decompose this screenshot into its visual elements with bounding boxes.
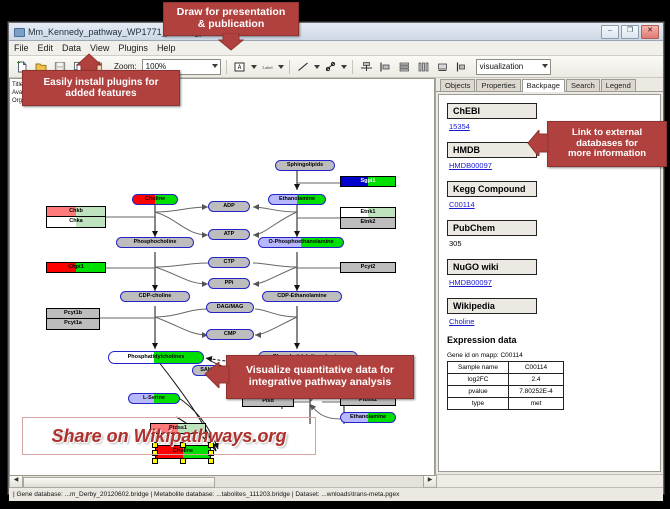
node-etnk2[interactable]: Etnk2 — [340, 218, 396, 229]
line-icon[interactable] — [295, 58, 312, 75]
visualization-value: visualization — [480, 62, 524, 71]
callout-visualize-arrow — [204, 362, 230, 388]
cell-key: Sample name — [448, 362, 509, 374]
toolbar-separator — [289, 60, 290, 74]
chevron-down-icon — [314, 65, 320, 69]
node-label: ADP — [223, 204, 235, 210]
expression-data-title: Expression data — [447, 335, 660, 345]
toolbar-separator — [226, 60, 227, 74]
node-label: Ethanolamine — [350, 415, 386, 421]
callout-visualize: Visualize quantitative data for integrat… — [226, 355, 414, 399]
svg-text:Label: Label — [262, 65, 273, 70]
callout-visualize-text: Visualize quantitative data for integrat… — [246, 365, 394, 389]
node-l-serine-left[interactable]: L-Serine — [128, 393, 180, 404]
node-label: Pcyt1a — [64, 321, 82, 327]
cell-value: met — [509, 398, 564, 410]
node-adp[interactable]: ADP — [208, 201, 250, 212]
table-row: type met — [448, 398, 564, 410]
menu-help[interactable]: Help — [157, 43, 176, 53]
callout-draw-text: Draw for presentation & publication — [177, 7, 286, 31]
node-label: Pcyt1b — [64, 311, 82, 317]
menu-bar: File Edit Data View Plugins Help — [9, 41, 663, 56]
section-header-nugo: NuGO wiki — [447, 259, 537, 275]
scroll-right-button[interactable]: ▶ — [423, 475, 437, 488]
callout-link-text: Link to external databases for more info… — [568, 128, 646, 160]
gene-id-line: Gene id on mapp: C00114 — [447, 352, 660, 359]
link-kegg[interactable]: C00114 — [449, 200, 660, 209]
menu-view[interactable]: View — [90, 43, 109, 53]
node-pcyt1a[interactable]: Pcyt1a — [46, 319, 100, 330]
node-phosphatidylcholines[interactable]: Phosphatidylcholines — [108, 351, 204, 364]
node-label: PPi — [225, 281, 234, 287]
node-label: CMP — [224, 332, 236, 338]
node-label: CDP-choline — [139, 294, 172, 300]
callout-link-arrow — [527, 130, 549, 156]
callout-link: Link to external databases for more info… — [547, 121, 667, 167]
cell-value: 2.4 — [509, 374, 564, 386]
order-icon[interactable] — [453, 58, 470, 75]
svg-text:A: A — [237, 64, 241, 71]
node-phosphocholine[interactable]: Phosphocholine — [116, 237, 194, 248]
label-dropdown[interactable] — [278, 65, 284, 69]
node-o-phosphoethanolamine[interactable]: O-Phosphoethanolamine — [258, 237, 344, 248]
cell-key: pvalue — [448, 386, 509, 398]
node-label: DAG/MAG — [217, 305, 244, 311]
node-cdp-ethanolamine[interactable]: CDP-Ethanolamine — [262, 291, 342, 302]
node-sphingolipids[interactable]: Sphingolipids — [275, 160, 335, 171]
horizontal-scrollbar[interactable]: ◀ ▶ — [9, 474, 663, 487]
tab-legend[interactable]: Legend — [601, 79, 636, 91]
expression-table: Sample name C00114 log2FC 2.4 pvalue 7.8… — [447, 361, 564, 410]
datanode-dropdown[interactable] — [251, 65, 257, 69]
maximize-button[interactable]: ❐ — [621, 25, 639, 39]
status-text: | Gene database: ...m_Derby_20120602.bri… — [13, 491, 399, 498]
node-label: Phosphocholine — [134, 240, 177, 246]
callout-share-text: Share on Wikipathways.org — [52, 426, 287, 447]
scroll-track[interactable] — [23, 476, 423, 487]
cell-value: 7.80252E-4 — [509, 386, 564, 398]
sidebar-tabs: Objects Properties Backpage Search Legen… — [436, 78, 663, 92]
node-label: CDP-Ethanolamine — [277, 294, 327, 300]
title-bar: Mm_Kennedy_pathway_WP1771_45176.gpml – ❐… — [9, 23, 663, 41]
section-header-pubchem: PubChem — [447, 220, 537, 236]
selection-handle[interactable] — [152, 458, 158, 464]
cell-key: log2FC — [448, 374, 509, 386]
label-icon[interactable]: Label — [259, 58, 276, 75]
node-label: Ethanolamine — [279, 197, 315, 203]
datanode-icon[interactable]: A — [232, 58, 249, 75]
node-ethanolamine-top[interactable]: Ethanolamine — [268, 194, 326, 205]
anchor-icon[interactable] — [322, 58, 339, 75]
table-row: pvalue 7.80252E-4 — [448, 386, 564, 398]
node-label: CTP — [224, 260, 235, 266]
callout-share: Share on Wikipathways.org — [22, 417, 316, 455]
node-label: L-Serine — [143, 396, 165, 402]
align-center-icon[interactable] — [358, 58, 375, 75]
node-sgpl1[interactable]: Sgpl1 — [340, 176, 396, 187]
scroll-left-button[interactable]: ◀ — [9, 475, 23, 488]
node-label: Pcyt2 — [361, 265, 376, 271]
section-header-kegg: Kegg Compound — [447, 181, 537, 197]
status-bar: | Gene database: ...m_Derby_20120602.bri… — [9, 487, 663, 501]
tab-search[interactable]: Search — [566, 79, 600, 91]
link-nugo[interactable]: HMDB00097 — [449, 278, 660, 287]
anchor-dropdown[interactable] — [341, 65, 347, 69]
node-label: Chkb — [69, 209, 83, 215]
table-row: Sample name C00114 — [448, 362, 564, 374]
table-row: log2FC 2.4 — [448, 374, 564, 386]
link-wikipedia[interactable]: Choline — [449, 317, 660, 326]
menu-file[interactable]: File — [14, 43, 29, 53]
value-pubchem: 305 — [449, 239, 660, 248]
node-ppi[interactable]: PPi — [208, 278, 250, 289]
chevron-down-icon — [278, 65, 284, 69]
node-atp[interactable]: ATP — [208, 229, 250, 240]
node-label: Choline — [145, 197, 165, 203]
selection-handle[interactable] — [208, 458, 214, 464]
callout-draw: Draw for presentation & publication — [163, 2, 299, 36]
node-pcyt2[interactable]: Pcyt2 — [340, 262, 396, 273]
menu-data[interactable]: Data — [62, 43, 81, 53]
tab-objects[interactable]: Objects — [440, 79, 475, 91]
callout-plugins-text: Easily install plugins for added feature… — [43, 77, 158, 99]
node-choline[interactable]: Choline — [132, 194, 178, 205]
node-chpt1[interactable]: Chpt1 — [46, 262, 106, 273]
node-label: Sphingolipids — [287, 163, 323, 169]
menu-edit[interactable]: Edit — [38, 43, 54, 53]
chevron-down-icon — [341, 65, 347, 69]
app-icon — [13, 26, 24, 37]
section-header-chebi: ChEBI — [447, 103, 537, 119]
minimize-button[interactable]: – — [601, 25, 619, 39]
node-etnk1[interactable]: Etnk1 — [340, 207, 396, 218]
align-left-icon[interactable] — [377, 58, 394, 75]
section-header-hmdb: HMDB — [447, 142, 537, 158]
node-label: Sgpl1 — [361, 179, 376, 185]
toolbar-separator — [352, 60, 353, 74]
tab-backpage[interactable]: Backpage — [522, 79, 565, 92]
node-label: Pisd — [262, 399, 274, 405]
node-chkb[interactable]: Chkb — [46, 206, 106, 217]
node-cmp[interactable]: CMP — [206, 329, 254, 340]
section-header-wikipedia: Wikipedia — [447, 298, 537, 314]
callout-draw-arrow — [218, 33, 244, 51]
node-label: Chpt1 — [68, 265, 84, 271]
window-buttons: – ❐ ✕ — [601, 25, 659, 39]
selection-handle[interactable] — [180, 458, 186, 464]
screenshot-root: Mm_Kennedy_pathway_WP1771_45176.gpml – ❐… — [0, 0, 670, 509]
scroll-thumb[interactable] — [23, 477, 215, 488]
node-ethanolamine-bottom[interactable]: Ethanolamine — [340, 412, 396, 423]
node-label: ATP — [224, 232, 235, 238]
close-button[interactable]: ✕ — [641, 25, 659, 39]
node-pcyt1b[interactable]: Pcyt1b — [46, 308, 100, 319]
node-chka[interactable]: Chka — [46, 217, 106, 228]
stack-icon[interactable] — [396, 58, 413, 75]
chevron-down-icon — [251, 65, 257, 69]
visualization-combo[interactable]: visualization — [476, 59, 551, 75]
layout-icon[interactable] — [434, 58, 451, 75]
node-label: Etnk2 — [361, 220, 376, 226]
node-label: Chka — [69, 219, 82, 225]
chevron-down-icon — [542, 64, 548, 68]
chevron-down-icon — [212, 64, 218, 68]
node-label: O-Phosphoethanolamine — [268, 240, 333, 246]
line-dropdown[interactable] — [314, 65, 320, 69]
node-ctp[interactable]: CTP — [208, 257, 250, 268]
node-label: Phosphatidylcholines — [128, 355, 185, 361]
node-label: Etnk1 — [361, 210, 376, 216]
cell-value: C00114 — [509, 362, 564, 374]
distribute-icon[interactable] — [415, 58, 432, 75]
cell-key: type — [448, 398, 509, 410]
menu-plugins[interactable]: Plugins — [118, 43, 148, 53]
callout-plugins: Easily install plugins for added feature… — [22, 70, 180, 106]
node-cdp-choline[interactable]: CDP-choline — [120, 291, 190, 302]
tab-properties[interactable]: Properties — [476, 79, 520, 91]
node-dagmag[interactable]: DAG/MAG — [206, 302, 254, 313]
